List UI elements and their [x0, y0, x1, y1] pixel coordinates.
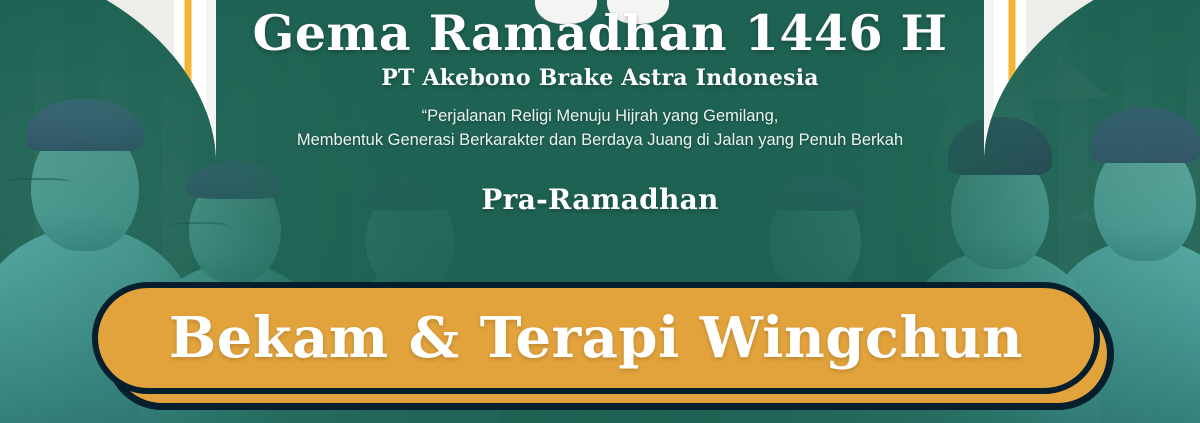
event-title-banner-pill: Bekam & Terapi Wingchun — [92, 282, 1100, 394]
event-title-banner: Bekam & Terapi Wingchun — [92, 282, 1114, 400]
event-title: Gema Ramadhan 1446 H — [253, 6, 948, 61]
phase-label: Pra-Ramadhan — [481, 183, 718, 216]
ramadhan-event-banner: Gema Ramadhan 1446 H PT Akebono Brake As… — [0, 0, 1200, 423]
tagline-line-1: “Perjalanan Religi Menuju Hijrah yang Ge… — [297, 105, 903, 129]
tagline-line-2: Membentuk Generasi Berkarakter dan Berda… — [297, 129, 903, 153]
event-title-banner-text: Bekam & Terapi Wingchun — [169, 310, 1023, 366]
tagline: “Perjalanan Religi Menuju Hijrah yang Ge… — [297, 105, 903, 153]
company-name: PT Akebono Brake Astra Indonesia — [381, 65, 818, 91]
